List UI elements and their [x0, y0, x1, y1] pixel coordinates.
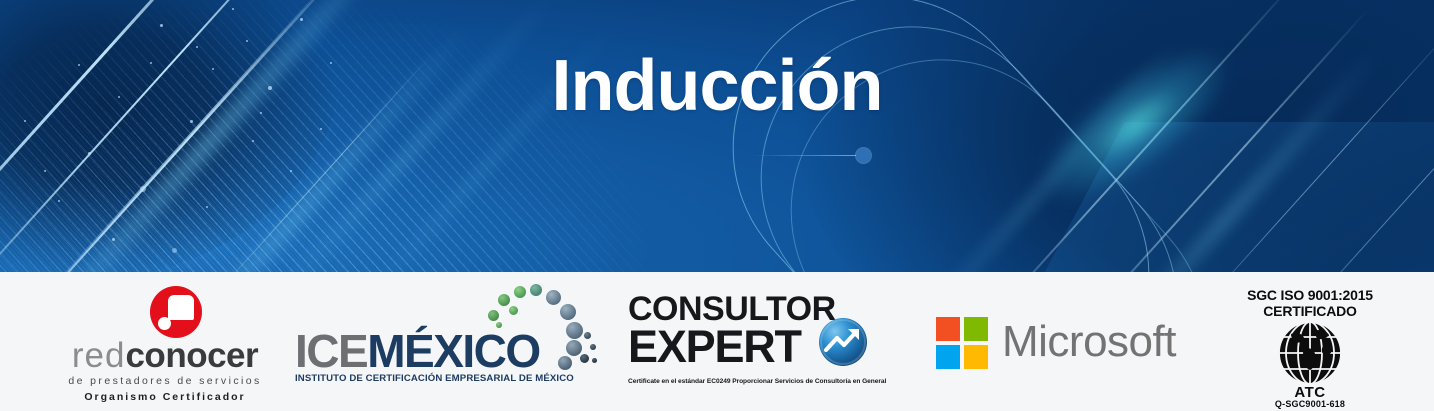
page-title: Inducción	[0, 50, 1434, 122]
partner-logo-bar: redconocer de prestadores de servicios O…	[0, 272, 1434, 411]
redconocer-word-red: red	[72, 336, 126, 375]
logo-microsoft: Microsoft	[930, 272, 1200, 411]
redconocer-subtitle-2: Organismo Certificador	[40, 391, 290, 403]
redconocer-word-conocer: conocer	[125, 336, 258, 375]
logo-ice-mexico: ICEMÉXICO INSTITUTO DE CERTIFICACIÓN EMP…	[290, 272, 600, 411]
consultor-line-2: EXPERT	[628, 324, 801, 369]
ice-word-mexico: MÉXICO	[367, 325, 539, 377]
microsoft-wordmark: Microsoft	[1002, 316, 1176, 368]
ice-mexico-wordmark: ICEMÉXICO	[295, 328, 540, 374]
hero-banner: Inducción	[0, 0, 1434, 272]
logo-redconocer: redconocer de prestadores de servicios O…	[40, 272, 290, 411]
microsoft-squares-icon	[936, 317, 988, 369]
redconocer-subtitle-1: de prestadores de servicios	[40, 375, 290, 387]
logo-sgc-iso-atc: SGC ISO 9001:2015 CERTIFICADO	[1215, 272, 1405, 411]
iso-certificate-code: Q-SGC9001-618	[1215, 399, 1405, 409]
ice-mexico-subtitle: INSTITUTO DE CERTIFICACIÓN EMPRESARIAL D…	[295, 373, 547, 384]
redconocer-wordmark: redconocer	[40, 338, 290, 373]
consultor-growth-arrow-icon	[819, 318, 867, 366]
iso-line-1: SGC ISO 9001:2015	[1215, 287, 1405, 303]
banner-dot-field	[0, 0, 760, 272]
redconocer-mark-icon	[150, 286, 202, 338]
banner-node-line	[752, 155, 860, 156]
ice-word-ice: ICE	[295, 325, 367, 377]
iso-globe-icon	[1277, 320, 1343, 386]
banner-node-dot	[856, 148, 871, 163]
slide-banner-page: Inducción redconocer de prestadores de s…	[0, 0, 1434, 411]
iso-line-2: CERTIFICADO	[1215, 303, 1405, 319]
logo-consultor-experto: CONSULTOR EXPERT Certificate en el están…	[620, 272, 885, 411]
consultor-subtitle: Certificate en el estándar EC0249 Propor…	[628, 378, 878, 385]
